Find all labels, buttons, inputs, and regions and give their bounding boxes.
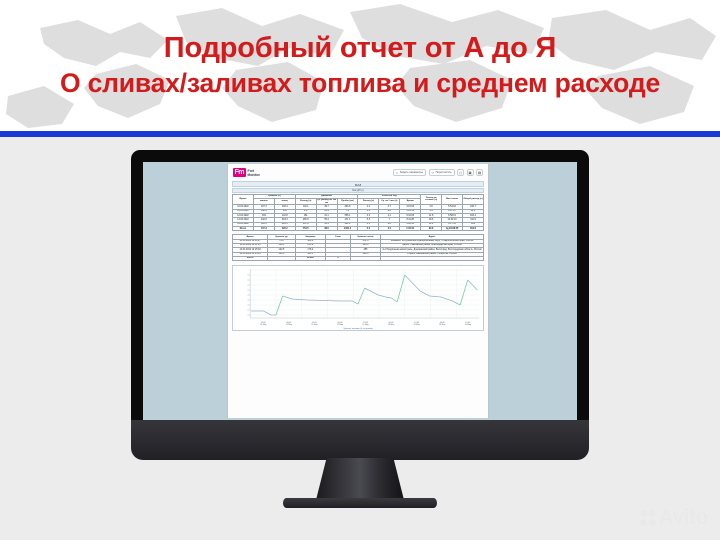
sub-header-cell-2: конец: [274, 198, 295, 205]
banner: Подробный отчет от А до Я О сливах/залив…: [0, 0, 720, 131]
tick-date: 13 Мар: [388, 324, 394, 326]
refuel-total-cell-1: [268, 257, 296, 261]
total-cell-0: Итого: [233, 227, 254, 231]
chart-x-tick-7: 00:0014 Мар: [429, 322, 455, 332]
total-cell-11: 814.8: [462, 227, 483, 231]
chart-x-tick-labels: 12:0010 Мар00:0011 Мар12:0011 Мар00:0012…: [233, 322, 483, 332]
set-parameters-button[interactable]: ⚌ Задать параметры: [393, 169, 427, 176]
tick-date: 14 Мар: [439, 324, 445, 326]
refuel-total-cell-4: [350, 257, 380, 261]
chart-x-tick-6: 12:0013 Мар: [404, 322, 430, 332]
monitor-chin: [131, 420, 589, 460]
chart-x-tick-5: 00:0013 Мар: [378, 322, 404, 332]
monitor-stand-neck: [316, 458, 404, 500]
fuel-level-chart-svg: [233, 266, 483, 322]
total-cell-8: 1:18:21: [400, 227, 421, 231]
chart-x-tick-1: 00:0011 Мар: [276, 322, 302, 332]
total-cell-2: 426.2: [274, 227, 295, 231]
chart-x-tick-8: 12:0014 Мар: [455, 322, 481, 332]
total-cell-3: 754.5: [295, 227, 316, 231]
avito-watermark: Avito: [640, 507, 708, 528]
sub-header-cell-7: Ср. на 1 час (л): [379, 198, 400, 205]
report-toolbar: Fm Fort Monitor ⚌ Задать параметры ⟳: [228, 164, 488, 181]
avito-dots-icon: [640, 510, 656, 526]
consumption-table: ВремяУровень (л)ДвижениеХолостой ходРасх…: [232, 194, 484, 232]
report-panel: Fm Fort Monitor ⚌ Задать параметры ⟳: [227, 164, 489, 418]
monitor-bezel: Fm Fort Monitor ⚌ Задать параметры ⟳: [131, 150, 589, 432]
banner-headline-primary: Подробный отчет от А до Я: [164, 32, 556, 64]
chart-caption: Уровень топлива (л) по датчику: [233, 328, 483, 330]
banner-headline-secondary: О сливах/заливах топлива и среднем расхо…: [60, 69, 660, 99]
chart-x-tick-3: 00:0012 Мар: [327, 322, 353, 332]
consumption-table-head: ВремяУровень (л)ДвижениеХолостой ходРасх…: [233, 194, 484, 205]
tick-date: 12 Мар: [362, 324, 368, 326]
tick-date: 12 Мар: [337, 324, 343, 326]
refuel-table-body: 10.03.2022 18:50:2772.8180.4272.4«Кавказ…: [233, 239, 484, 261]
toolbar-actions: ⚌ Задать параметры ⟳ Пересчитать ⎙ ▣: [393, 169, 483, 176]
desktop-monitor: Fm Fort Monitor ⚌ Задать параметры ⟳: [131, 150, 589, 475]
monitor-stand-base: [283, 498, 437, 508]
total-cell-4: 38.0: [316, 227, 337, 231]
logo-line-2: Monitor: [248, 173, 260, 177]
total-cell-5: 2441.4: [337, 227, 358, 231]
save-button[interactable]: ▣: [467, 169, 474, 176]
sub-header-cell-6: Расход (л): [358, 198, 379, 205]
save-icon: ▣: [468, 171, 471, 175]
refresh-icon: ⟳: [432, 171, 435, 175]
chart-x-tick-4: 12:0012 Мар: [353, 322, 379, 332]
refuel-table-wrap: ВремяУровень доЗаправкаСливУровень после…: [232, 234, 484, 261]
refuel-total-cell-3: 0: [325, 257, 350, 261]
consumption-table-wrap: ВремяУровень (л)ДвижениеХолостой ходРасх…: [232, 194, 484, 232]
total-cell-9: 62.9: [421, 227, 442, 231]
sub-header-cell-4: Ср. расход на 100 км: [316, 198, 337, 205]
consumption-table-body: 10.03.2022107.3148.4102.139.7303.84.43.7…: [233, 205, 484, 231]
sub-header-cell-1: начало: [253, 198, 274, 205]
fuel-level-chart: 12:0010 Мар00:0011 Мар12:0011 Мар00:0012…: [232, 265, 484, 331]
blue-divider: [0, 131, 720, 137]
refuel-table: ВремяУровень доЗаправкаСливУровень после…: [232, 234, 484, 261]
recalculate-label: Пересчитать: [436, 171, 452, 174]
tick-date: 11 Мар: [286, 324, 292, 326]
total-cell-10: 1д 18:08:45: [442, 227, 463, 231]
chart-gridlines: [250, 269, 479, 318]
total-cell-6: 5.4: [358, 227, 379, 231]
group-header-cell-4: Расход на стоянке (л): [421, 194, 442, 205]
table-total-row: Итого107.3426.2754.538.02441.45.44.41:18…: [233, 227, 484, 231]
avito-label: Avito: [659, 507, 708, 528]
sub-header-cell-5: Пробег (км): [337, 198, 358, 205]
sub-header-cell-8: Время: [400, 198, 421, 205]
logo-wordmark: Fort Monitor: [248, 169, 260, 177]
logo-mark: Fm: [233, 168, 246, 177]
chart-x-tick-0: 12:0010 Мар: [251, 322, 277, 332]
monitor-screen: Fm Fort Monitor ⚌ Задать параметры ⟳: [143, 162, 577, 420]
total-cell-7: 4.4: [379, 227, 400, 231]
sub-header-cell-3: Расход (л): [295, 198, 316, 205]
sliders-icon: ⚌: [396, 171, 399, 175]
export-button[interactable]: ▤: [476, 169, 483, 176]
refuel-total-cell-5: [381, 257, 484, 261]
print-button[interactable]: ⎙: [457, 169, 464, 176]
tick-date: 13 Мар: [413, 324, 419, 326]
total-cell-1: 107.3: [253, 227, 274, 231]
report-subtitle: Бак ДТ(л): [232, 188, 484, 193]
group-header-cell-0: Время: [233, 194, 254, 205]
chart-y-ticks: [247, 275, 250, 315]
refuel-total-cell-0: Итого: [233, 257, 268, 261]
report-title: МАЗ: [232, 181, 484, 187]
tick-date: 10 Мар: [260, 324, 266, 326]
tick-date: 14 Мар: [465, 324, 471, 326]
recalculate-button[interactable]: ⟳ Пересчитать: [429, 169, 455, 176]
fort-monitor-logo[interactable]: Fm Fort Monitor: [233, 168, 260, 177]
export-icon: ▤: [478, 171, 481, 175]
refuel-total-cell-2: 1159.8: [295, 257, 325, 261]
refuel-total-row: Итого1159.80: [233, 257, 484, 261]
fuel-level-drain-trace: [251, 311, 276, 315]
chart-x-tick-2: 12:0011 Мар: [302, 322, 328, 332]
group-header-cell-6: Общий расход (л): [462, 194, 483, 205]
printer-icon: ⎙: [459, 171, 462, 175]
tick-date: 11 Мар: [311, 324, 317, 326]
set-parameters-label: Задать параметры: [400, 171, 423, 174]
group-header-cell-5: Мото-часы: [442, 194, 463, 205]
